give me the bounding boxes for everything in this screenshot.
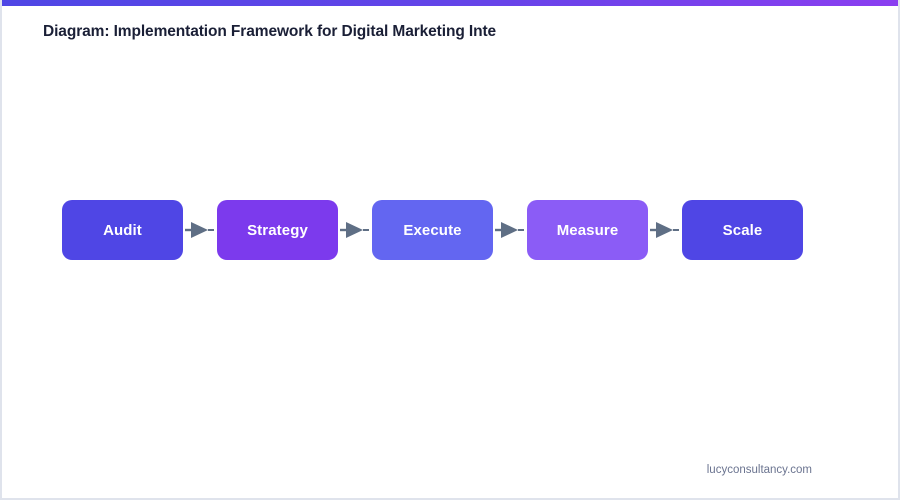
- flow-node-measure[interactable]: Measure: [527, 200, 648, 260]
- flow-node-label: Audit: [103, 222, 142, 239]
- flow-connector-2: [338, 217, 372, 243]
- flow-node-scale[interactable]: Scale: [682, 200, 803, 260]
- arrow-right-icon: [185, 219, 215, 241]
- flow-connector-1: [183, 217, 217, 243]
- diagram-page: Diagram: Implementation Framework for Di…: [0, 0, 900, 500]
- process-flow-diagram: Audit Strategy: [62, 200, 803, 260]
- source-watermark: lucyconsultancy.com: [707, 464, 812, 476]
- flow-node-audit[interactable]: Audit: [62, 200, 183, 260]
- arrow-right-icon: [650, 219, 680, 241]
- arrow-right-icon: [495, 219, 525, 241]
- flow-connector-4: [648, 217, 682, 243]
- flow-node-label: Scale: [723, 222, 763, 239]
- flow-node-execute[interactable]: Execute: [372, 200, 493, 260]
- top-accent-bar: [2, 0, 900, 6]
- flow-connector-3: [493, 217, 527, 243]
- flow-node-label: Measure: [557, 222, 619, 239]
- arrow-right-icon: [340, 219, 370, 241]
- flow-node-label: Execute: [403, 222, 461, 239]
- page-title: Diagram: Implementation Framework for Di…: [43, 23, 496, 41]
- flow-node-strategy[interactable]: Strategy: [217, 200, 338, 260]
- flow-node-label: Strategy: [247, 222, 308, 239]
